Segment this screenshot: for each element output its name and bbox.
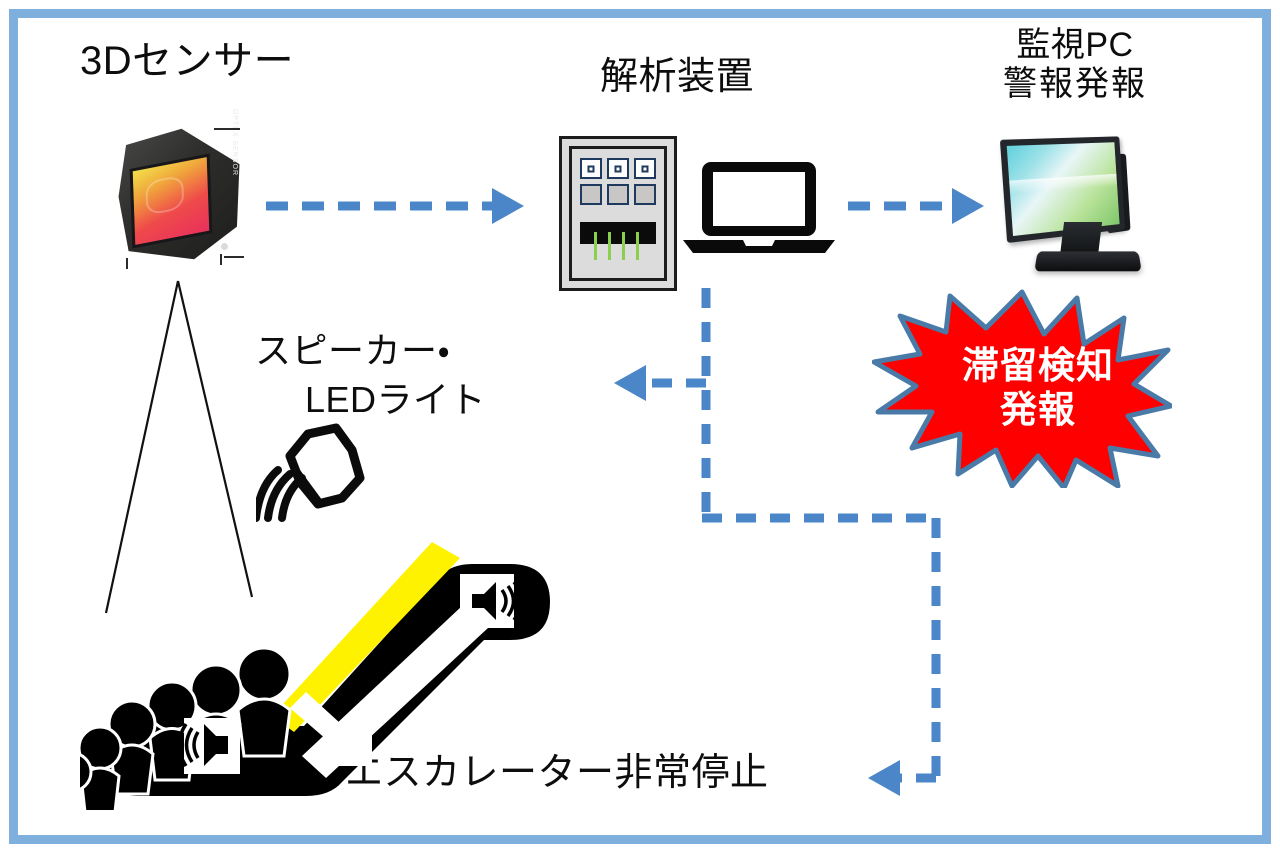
diagram-canvas: 3Dセンサー 解析装置 監視PC 警報発報 スピーカー・ LEDライト エスカレ… [0, 0, 1280, 853]
arrow-feedback-to-speaker [614, 365, 706, 401]
arrow-analyzer-to-pc [848, 188, 984, 224]
arrow-sensor-to-analyzer [266, 188, 524, 224]
flow-arrows-layer [0, 0, 1280, 853]
arrow-feedback-to-escalator [702, 518, 936, 796]
